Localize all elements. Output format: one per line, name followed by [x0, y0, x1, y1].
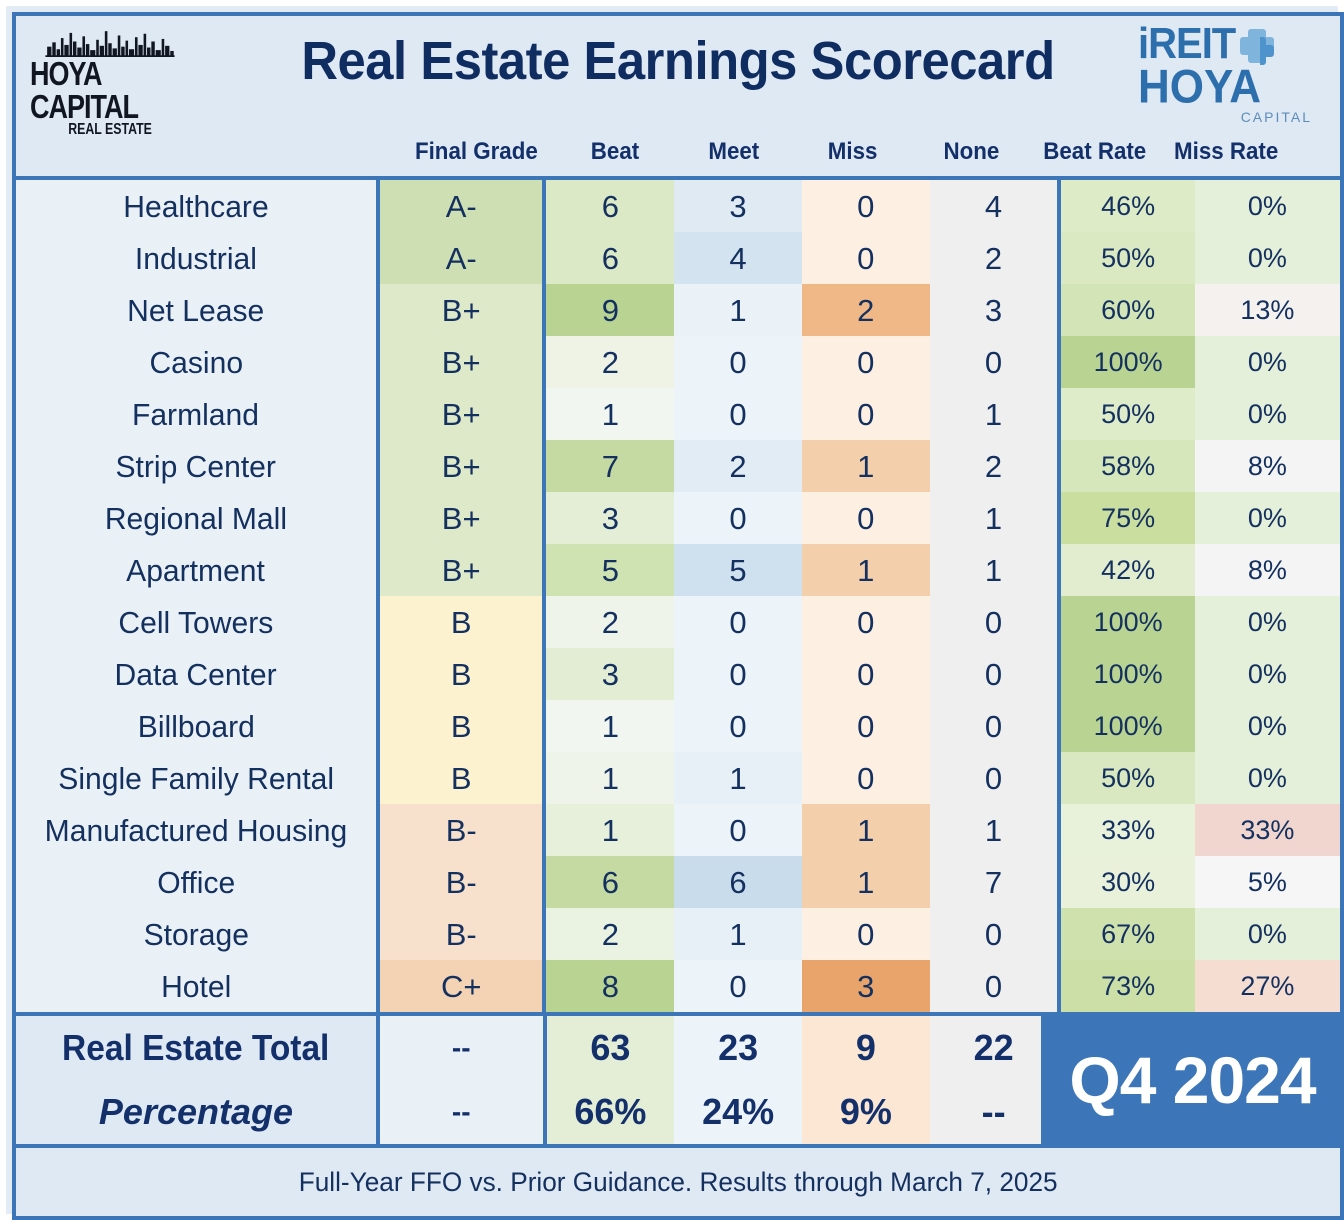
scorecard-card: HOYA CAPITAL REAL ESTATE Real Estate Ear… [0, 0, 1344, 1220]
row-beat: 5 [546, 544, 674, 596]
table-row: OfficeB-661730%5% [16, 856, 1340, 908]
row-none: 3 [930, 284, 1058, 336]
row-miss-rate: 27% [1195, 960, 1340, 1012]
row-sector-name: Industrial [16, 232, 376, 284]
row-beat: 6 [546, 232, 674, 284]
table-row: Cell TowersB2000100%0% [16, 596, 1340, 648]
row-beat-rate: 100% [1057, 336, 1195, 388]
row-none: 0 [930, 908, 1058, 960]
row-miss: 3 [802, 960, 930, 1012]
row-beat: 2 [546, 336, 674, 388]
row-beat: 6 [546, 856, 674, 908]
summary-beat-total: 63 [547, 1016, 675, 1080]
row-beat-rate: 46% [1057, 180, 1195, 232]
table-row: HealthcareA-630446%0% [16, 180, 1340, 232]
row-meet: 0 [674, 596, 802, 648]
row-sector-name: Office [16, 856, 376, 908]
row-none: 1 [930, 544, 1058, 596]
row-meet: 2 [674, 440, 802, 492]
row-beat-rate: 75% [1057, 492, 1195, 544]
table-row: StorageB-210067%0% [16, 908, 1340, 960]
row-miss: 0 [802, 648, 930, 700]
row-meet: 0 [674, 492, 802, 544]
table-row: Net LeaseB+912360%13% [16, 284, 1340, 336]
summary-beat-percentage: 66% [547, 1080, 675, 1144]
row-beat-rate: 100% [1057, 700, 1195, 752]
ireit-hoya-logo: iREIT HOYA CAPITAL [1138, 24, 1318, 126]
row-meet: 5 [674, 544, 802, 596]
row-miss: 1 [802, 544, 930, 596]
row-sector-name: Hotel [16, 960, 376, 1012]
row-none: 1 [930, 804, 1058, 856]
row-beat-rate: 50% [1057, 752, 1195, 804]
table-row: Data CenterB3000100%0% [16, 648, 1340, 700]
row-meet: 0 [674, 700, 802, 752]
row-sector-name: Healthcare [16, 180, 376, 232]
row-miss: 0 [802, 180, 930, 232]
row-miss-rate: 0% [1195, 908, 1340, 960]
row-beat: 3 [546, 492, 674, 544]
row-miss: 0 [802, 596, 930, 648]
row-beat: 1 [546, 700, 674, 752]
summary-meet-total: 23 [674, 1016, 802, 1080]
row-final-grade: B+ [376, 284, 547, 336]
row-miss: 1 [802, 440, 930, 492]
col-header-final-grade: Final Grade [397, 138, 555, 166]
row-sector-name: Farmland [16, 388, 376, 440]
col-header-beat-rate: Beat Rate [1031, 138, 1159, 166]
row-none: 0 [930, 648, 1058, 700]
table-row: ApartmentB+551142%8% [16, 544, 1340, 596]
row-none: 7 [930, 856, 1058, 908]
row-meet: 0 [674, 804, 802, 856]
row-final-grade: B+ [376, 544, 547, 596]
row-final-grade: A- [376, 232, 547, 284]
row-beat-rate: 67% [1057, 908, 1195, 960]
row-final-grade: B+ [376, 388, 547, 440]
summary-none-percentage: -- [930, 1080, 1058, 1144]
row-final-grade: B- [376, 908, 547, 960]
row-none: 0 [930, 960, 1058, 1012]
row-none: 0 [930, 596, 1058, 648]
row-none: 0 [930, 336, 1058, 388]
row-none: 0 [930, 700, 1058, 752]
page-title: Real Estate Earnings Scorecard [56, 30, 1301, 92]
ireit-wordmark: iREIT [1138, 24, 1235, 64]
row-beat-rate: 73% [1057, 960, 1195, 1012]
col-spacer [62, 138, 397, 166]
row-beat-rate: 42% [1057, 544, 1195, 596]
row-final-grade: B- [376, 804, 547, 856]
row-meet: 1 [674, 284, 802, 336]
footnote: Full-Year FFO vs. Prior Guidance. Result… [16, 1148, 1340, 1216]
row-beat: 1 [546, 752, 674, 804]
row-final-grade: B+ [376, 336, 547, 388]
row-final-grade: C+ [376, 960, 547, 1012]
scorecard-frame: HOYA CAPITAL REAL ESTATE Real Estate Ear… [12, 12, 1344, 1220]
row-final-grade: B- [376, 856, 547, 908]
row-none: 0 [930, 752, 1058, 804]
summary-miss-total: 9 [802, 1016, 930, 1080]
row-beat: 1 [546, 804, 674, 856]
header: HOYA CAPITAL REAL ESTATE Real Estate Ear… [16, 16, 1340, 180]
row-beat-rate: 58% [1057, 440, 1195, 492]
row-final-grade: B [376, 648, 547, 700]
row-sector-name: Manufactured Housing [16, 804, 376, 856]
col-header-miss: Miss [793, 138, 912, 166]
column-header-row: Final Grade Beat Meet Miss None Beat Rat… [62, 138, 1293, 166]
row-final-grade: B+ [376, 440, 547, 492]
row-miss: 0 [802, 700, 930, 752]
ireit-hoya-wordmark: HOYA [1138, 66, 1261, 110]
row-miss: 0 [802, 388, 930, 440]
row-meet: 4 [674, 232, 802, 284]
row-none: 2 [930, 232, 1058, 284]
row-beat-rate: 60% [1057, 284, 1195, 336]
row-final-grade: B [376, 596, 547, 648]
row-sector-name: Regional Mall [16, 492, 376, 544]
row-miss-rate: 0% [1195, 596, 1340, 648]
row-beat: 8 [546, 960, 674, 1012]
row-beat: 2 [546, 596, 674, 648]
row-miss-rate: 0% [1195, 700, 1340, 752]
row-miss: 0 [802, 752, 930, 804]
scorecard-table: HealthcareA-630446%0%IndustrialA-640250%… [16, 180, 1340, 1216]
quarter-badge: Q4 2024 [1041, 1016, 1340, 1144]
row-miss-rate: 5% [1195, 856, 1340, 908]
summary-miss-percentage: 9% [802, 1080, 930, 1144]
summary-label-percentage: Percentage [16, 1080, 376, 1144]
row-sector-name: Net Lease [16, 284, 376, 336]
hoya-capital-tagline: REAL ESTATE [68, 120, 152, 138]
row-miss-rate: 0% [1195, 232, 1340, 284]
table-row: BillboardB1000100%0% [16, 700, 1340, 752]
table-row: FarmlandB+100150%0% [16, 388, 1340, 440]
row-meet: 3 [674, 180, 802, 232]
row-beat-rate: 50% [1057, 232, 1195, 284]
row-sector-name: Storage [16, 908, 376, 960]
row-miss: 2 [802, 284, 930, 336]
row-sector-name: Casino [16, 336, 376, 388]
row-sector-name: Data Center [16, 648, 376, 700]
row-beat-rate: 100% [1057, 596, 1195, 648]
row-beat: 9 [546, 284, 674, 336]
row-none: 4 [930, 180, 1058, 232]
row-final-grade: B+ [376, 492, 547, 544]
row-miss-rate: 0% [1195, 648, 1340, 700]
row-miss-rate: 0% [1195, 388, 1340, 440]
row-final-grade: B [376, 752, 547, 804]
row-meet: 6 [674, 856, 802, 908]
col-header-beat: Beat [556, 138, 675, 166]
row-miss-rate: 0% [1195, 752, 1340, 804]
table-body: HealthcareA-630446%0%IndustrialA-640250%… [16, 180, 1340, 1016]
row-miss-rate: 0% [1195, 180, 1340, 232]
row-sector-name: Strip Center [16, 440, 376, 492]
summary-grade-total: -- [376, 1016, 547, 1080]
row-beat-rate: 33% [1057, 804, 1195, 856]
row-sector-name: Billboard [16, 700, 376, 752]
row-meet: 0 [674, 336, 802, 388]
row-miss: 0 [802, 908, 930, 960]
row-beat-rate: 100% [1057, 648, 1195, 700]
row-sector-name: Apartment [16, 544, 376, 596]
row-miss-rate: 8% [1195, 544, 1340, 596]
footnote-text: Full-Year FFO vs. Prior Guidance. Result… [299, 1167, 1058, 1198]
row-miss: 0 [802, 232, 930, 284]
row-miss-rate: 33% [1195, 804, 1340, 856]
row-final-grade: A- [376, 180, 547, 232]
row-beat-rate: 30% [1057, 856, 1195, 908]
summary-label-total: Real Estate Total [16, 1016, 376, 1080]
row-miss-rate: 0% [1195, 492, 1340, 544]
col-header-none: None [912, 138, 1031, 166]
row-miss: 1 [802, 856, 930, 908]
row-final-grade: B [376, 700, 547, 752]
row-beat: 1 [546, 388, 674, 440]
row-beat: 6 [546, 180, 674, 232]
row-beat-rate: 50% [1057, 388, 1195, 440]
row-meet: 0 [674, 648, 802, 700]
summary-meet-percentage: 24% [674, 1080, 802, 1144]
row-beat: 7 [546, 440, 674, 492]
table-row: Single Family RentalB110050%0% [16, 752, 1340, 804]
row-miss-rate: 13% [1195, 284, 1340, 336]
row-beat: 3 [546, 648, 674, 700]
row-none: 1 [930, 492, 1058, 544]
row-miss: 0 [802, 492, 930, 544]
table-row: Strip CenterB+721258%8% [16, 440, 1340, 492]
row-sector-name: Single Family Rental [16, 752, 376, 804]
summary-section: Real Estate Total -- 63 23 9 22 Percenta… [16, 1016, 1340, 1148]
table-row: HotelC+803073%27% [16, 960, 1340, 1012]
row-miss: 0 [802, 336, 930, 388]
col-header-meet: Meet [674, 138, 793, 166]
row-meet: 0 [674, 388, 802, 440]
table-row: Regional MallB+300175%0% [16, 492, 1340, 544]
row-sector-name: Cell Towers [16, 596, 376, 648]
summary-none-total: 22 [930, 1016, 1058, 1080]
row-beat: 2 [546, 908, 674, 960]
col-header-miss-rate: Miss Rate [1159, 138, 1294, 166]
row-meet: 1 [674, 908, 802, 960]
row-meet: 1 [674, 752, 802, 804]
row-none: 1 [930, 388, 1058, 440]
table-row: CasinoB+2000100%0% [16, 336, 1340, 388]
table-row: IndustrialA-640250%0% [16, 232, 1340, 284]
row-none: 2 [930, 440, 1058, 492]
row-miss: 1 [802, 804, 930, 856]
table-row: Manufactured HousingB-101133%33% [16, 804, 1340, 856]
row-miss-rate: 0% [1195, 336, 1340, 388]
row-meet: 0 [674, 960, 802, 1012]
summary-grade-percentage: -- [376, 1080, 547, 1144]
row-miss-rate: 8% [1195, 440, 1340, 492]
